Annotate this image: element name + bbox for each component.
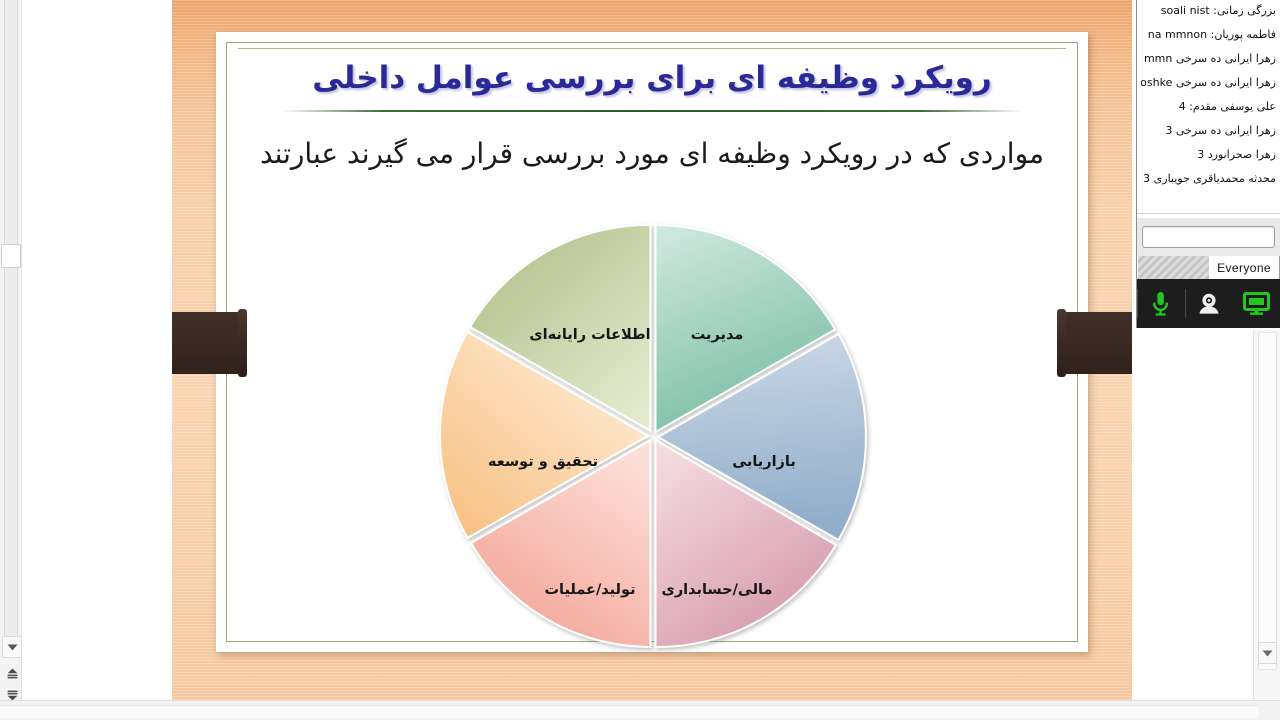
right-scrollbar-track[interactable] — [1258, 332, 1277, 670]
monitor-icon — [1243, 292, 1270, 315]
chevron-down-icon — [7, 644, 18, 651]
left-scrollbar-thumb[interactable] — [1, 244, 21, 268]
double-chevron-up-icon — [7, 668, 18, 679]
av-toolbar — [1137, 279, 1280, 328]
tab-strip-filler — [1137, 256, 1209, 279]
slide-subtitle: مواردی که در رویکرد وظیفه ای مورد بررسی … — [228, 130, 1076, 178]
chat-input-row — [1137, 218, 1280, 256]
previous-slide-button[interactable] — [2, 662, 22, 684]
webcam-button[interactable] — [1185, 279, 1233, 328]
chevron-down-icon — [1262, 650, 1273, 657]
left-scrollbar-track[interactable] — [4, 0, 18, 648]
title-rule-bottom — [280, 110, 1024, 112]
title-rule-top — [238, 48, 1066, 49]
slide-canvas: رویکرد وظیفه ای برای بررسی عوامل داخلی م… — [216, 32, 1088, 652]
right-scrollbar — [1253, 330, 1280, 700]
chat-panel: بزرگی زمانی: soali nist فاطمه پوریان: na… — [1136, 0, 1280, 328]
chat-input[interactable] — [1142, 226, 1275, 248]
chat-message: زهرا صحرانورد 3 — [1141, 148, 1278, 172]
chat-message: علی یوسفی مقدم: 4 — [1141, 100, 1278, 124]
chat-message: زهرا ایرانی ده سرخی moshke — [1141, 76, 1278, 100]
pie-chart-svg — [417, 200, 887, 668]
presentation-stage: رویکرد وظیفه ای برای بررسی عوامل داخلی م… — [172, 0, 1132, 700]
decorative-tab-left — [172, 312, 242, 374]
bottom-status-bar — [0, 700, 1280, 720]
decorative-tab-right — [1062, 312, 1132, 374]
chat-message: زهرا ایرانی ده سرخی na mmn — [1141, 52, 1278, 76]
chat-message: بزرگی زمانی: soali nist — [1141, 4, 1278, 28]
webcam-icon — [1197, 292, 1221, 315]
microphone-button[interactable] — [1137, 279, 1185, 328]
chat-recipient-tabs: Everyone — [1137, 256, 1280, 279]
left-navigation-strip — [0, 0, 22, 700]
double-chevron-down-icon — [7, 690, 18, 701]
chat-message: زهرا ایرانی ده سرخی 3 — [1141, 124, 1278, 148]
scroll-down-button[interactable] — [2, 636, 22, 658]
chat-message: محدثه محمدیاقری جویباری 3 — [1141, 172, 1278, 196]
functional-areas-pie-chart: مدیریت بازاریابی مالی/حسابداری تولید/عمل… — [417, 200, 887, 668]
screen-share-button[interactable] — [1232, 279, 1280, 328]
chat-message: فاطمه پوریان: na mmnon — [1141, 28, 1278, 52]
tab-everyone[interactable]: Everyone — [1209, 256, 1280, 279]
slide-title: رویکرد وظیفه ای برای بررسی عوامل داخلی — [236, 50, 1068, 106]
bottom-bar-inner — [0, 705, 1258, 718]
chat-message-list[interactable]: بزرگی زمانی: soali nist فاطمه پوریان: na… — [1137, 0, 1280, 214]
screen-share-viewport: رویکرد وظیفه ای برای بررسی عوامل داخلی م… — [0, 0, 1280, 720]
microphone-icon — [1152, 291, 1169, 316]
right-scroll-down-button[interactable] — [1258, 642, 1277, 664]
